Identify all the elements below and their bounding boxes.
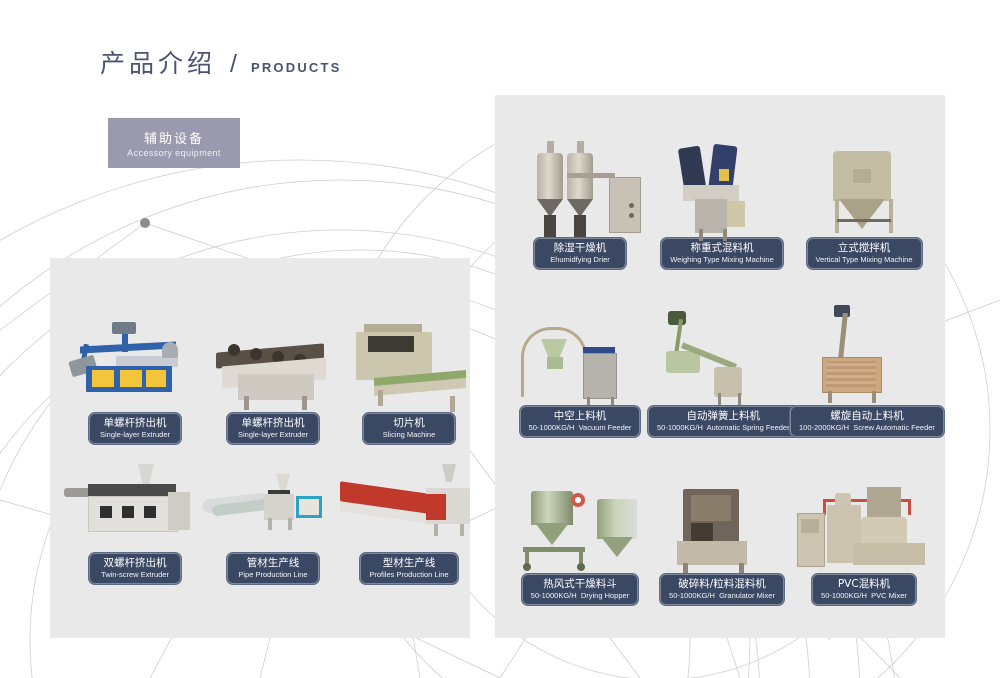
product-name-en: 50-1000KG/H Granulator Mixer xyxy=(669,591,775,600)
product-name-en: 50-1000KG/H Vacuum Feeder xyxy=(529,423,632,432)
product-card-pvc-mixer[interactable]: PVC混料机 50-1000KG/H PVC Mixer xyxy=(789,465,939,606)
product-card-dehumidifying-drier[interactable]: 除湿干燥机 Ehumidfying Drier xyxy=(505,129,655,270)
product-catalog-page: 产品介绍 / PRODUCTS 辅助设备 Accessory equipment… xyxy=(0,0,1000,678)
twin-screw-extruder-image xyxy=(60,444,210,552)
product-name-en: 50-1000KG/H PVC Mixer xyxy=(821,591,907,600)
category-tag-accessory-equipment[interactable]: 辅助设备 Accessory equipment xyxy=(108,118,240,168)
page-title-cn: 产品介绍 xyxy=(100,44,216,80)
vacuum-feeder-image xyxy=(505,297,655,405)
product-card-spring-feeder[interactable]: 自动弹簧上料机 50-1000KG/H Automatic Spring Fee… xyxy=(647,297,800,438)
profiles-production-line-image xyxy=(334,444,484,552)
product-name-en: Profiles Production Line xyxy=(369,570,448,579)
product-name-cn: 单螺杆挤出机 xyxy=(98,417,172,429)
spring-feeder-image xyxy=(648,297,798,405)
extrusion-equipment-panel: 单螺杆挤出机 Single-layer Extruder 单螺杆挤出 xyxy=(50,258,470,638)
product-badge[interactable]: 双螺杆挤出机 Twin-screw Extruder xyxy=(88,552,182,585)
product-name-cn: 单螺杆挤出机 xyxy=(236,417,310,429)
product-name-cn: PVC混料机 xyxy=(821,578,907,590)
accessory-equipment-panel: 除湿干燥机 Ehumidfying Drier 称重式混料机 Weighing … xyxy=(495,95,945,638)
product-card-vertical-mixer[interactable]: 立式搅拌机 Vertical Type Mixing Machine xyxy=(789,129,939,270)
weighing-mixer-image xyxy=(647,129,797,237)
granulator-mixer-image xyxy=(647,465,797,573)
product-name-en: 100-2000KG/H Screw Automatic Feeder xyxy=(799,423,935,432)
slicing-machine-image xyxy=(334,304,484,412)
product-card-single-layer-extruder-1[interactable]: 单螺杆挤出机 Single-layer Extruder xyxy=(60,304,210,445)
product-card-slicing-machine[interactable]: 切片机 Slicing Machine xyxy=(334,304,484,445)
product-name-en: Twin-screw Extruder xyxy=(98,570,172,579)
product-badge[interactable]: 破碎料/粒料混料机 50-1000KG/H Granulator Mixer xyxy=(659,573,785,606)
product-card-single-layer-extruder-2[interactable]: 单螺杆挤出机 Single-layer Extruder xyxy=(198,304,348,445)
product-badge[interactable]: 螺旋自动上料机 100-2000KG/H Screw Automatic Fee… xyxy=(789,405,945,438)
product-name-cn: 自动弹簧上料机 xyxy=(657,410,790,422)
product-card-profiles-production-line[interactable]: 型材生产线 Profiles Production Line xyxy=(334,444,484,585)
category-tag-cn: 辅助设备 xyxy=(144,128,204,147)
page-title-en: PRODUCTS xyxy=(251,60,342,75)
pvc-mixer-image xyxy=(789,465,939,573)
category-tag-en: Accessory equipment xyxy=(127,148,221,158)
left-product-grid: 单螺杆挤出机 Single-layer Extruder 单螺杆挤出 xyxy=(50,258,470,638)
product-name-cn: 立式搅拌机 xyxy=(816,242,913,254)
product-card-granulator-mixer[interactable]: 破碎料/粒料混料机 50-1000KG/H Granulator Mixer xyxy=(647,465,797,606)
product-name-en: Single-layer Extruder xyxy=(98,430,172,439)
right-product-grid: 除湿干燥机 Ehumidfying Drier 称重式混料机 Weighing … xyxy=(495,95,945,638)
page-title-slash: / xyxy=(230,50,237,79)
product-name-en: 50-1000KG/H Automatic Spring Feeder xyxy=(657,423,790,432)
product-badge[interactable]: 中空上料机 50-1000KG/H Vacuum Feeder xyxy=(519,405,642,438)
product-name-en: Weighing Type Mixing Machine xyxy=(670,255,774,264)
product-name-cn: 破碎料/粒料混料机 xyxy=(669,578,775,590)
pipe-production-line-image xyxy=(198,444,348,552)
product-name-cn: 除湿干燥机 xyxy=(543,242,617,254)
drying-hopper-image xyxy=(505,465,655,573)
product-badge[interactable]: 切片机 Slicing Machine xyxy=(362,412,456,445)
product-badge[interactable]: 称重式混料机 Weighing Type Mixing Machine xyxy=(660,237,784,270)
single-layer-extruder-image xyxy=(60,304,210,412)
product-card-drying-hopper[interactable]: 热风式干燥料斗 50-1000KG/H Drying Hopper xyxy=(505,465,655,606)
product-card-weighing-mixer[interactable]: 称重式混料机 Weighing Type Mixing Machine xyxy=(647,129,797,270)
screw-feeder-image xyxy=(792,297,942,405)
product-name-cn: 热风式干燥料斗 xyxy=(531,578,629,590)
product-badge[interactable]: PVC混料机 50-1000KG/H PVC Mixer xyxy=(811,573,917,606)
product-badge[interactable]: 型材生产线 Profiles Production Line xyxy=(359,552,458,585)
product-name-cn: 型材生产线 xyxy=(369,557,448,569)
product-badge[interactable]: 单螺杆挤出机 Single-layer Extruder xyxy=(226,412,320,445)
product-badge[interactable]: 管材生产线 Pipe Production Line xyxy=(226,552,320,585)
product-name-cn: 切片机 xyxy=(372,417,446,429)
page-title: 产品介绍 / PRODUCTS xyxy=(100,44,342,80)
product-card-twin-screw-extruder[interactable]: 双螺杆挤出机 Twin-screw Extruder xyxy=(60,444,210,585)
product-badge[interactable]: 立式搅拌机 Vertical Type Mixing Machine xyxy=(806,237,923,270)
product-card-pipe-production-line[interactable]: 管材生产线 Pipe Production Line xyxy=(198,444,348,585)
product-badge[interactable]: 自动弹簧上料机 50-1000KG/H Automatic Spring Fee… xyxy=(647,405,800,438)
product-badge[interactable]: 单螺杆挤出机 Single-layer Extruder xyxy=(88,412,182,445)
product-name-en: 50-1000KG/H Drying Hopper xyxy=(531,591,629,600)
product-name-cn: 称重式混料机 xyxy=(670,242,774,254)
product-badge[interactable]: 热风式干燥料斗 50-1000KG/H Drying Hopper xyxy=(521,573,639,606)
vertical-mixer-image xyxy=(789,129,939,237)
dehumidifying-drier-image xyxy=(505,129,655,237)
roller-extruder-image xyxy=(198,304,348,412)
product-name-en: Slicing Machine xyxy=(372,430,446,439)
product-name-en: Ehumidfying Drier xyxy=(543,255,617,264)
product-name-cn: 中空上料机 xyxy=(529,410,632,422)
product-name-en: Vertical Type Mixing Machine xyxy=(816,255,913,264)
product-card-screw-feeder[interactable]: 螺旋自动上料机 100-2000KG/H Screw Automatic Fee… xyxy=(789,297,945,438)
product-card-vacuum-feeder[interactable]: 中空上料机 50-1000KG/H Vacuum Feeder xyxy=(505,297,655,438)
product-name-en: Pipe Production Line xyxy=(236,570,310,579)
product-name-cn: 螺旋自动上料机 xyxy=(799,410,935,422)
product-name-en: Single-layer Extruder xyxy=(236,430,310,439)
product-name-cn: 双螺杆挤出机 xyxy=(98,557,172,569)
product-badge[interactable]: 除湿干燥机 Ehumidfying Drier xyxy=(533,237,627,270)
product-name-cn: 管材生产线 xyxy=(236,557,310,569)
